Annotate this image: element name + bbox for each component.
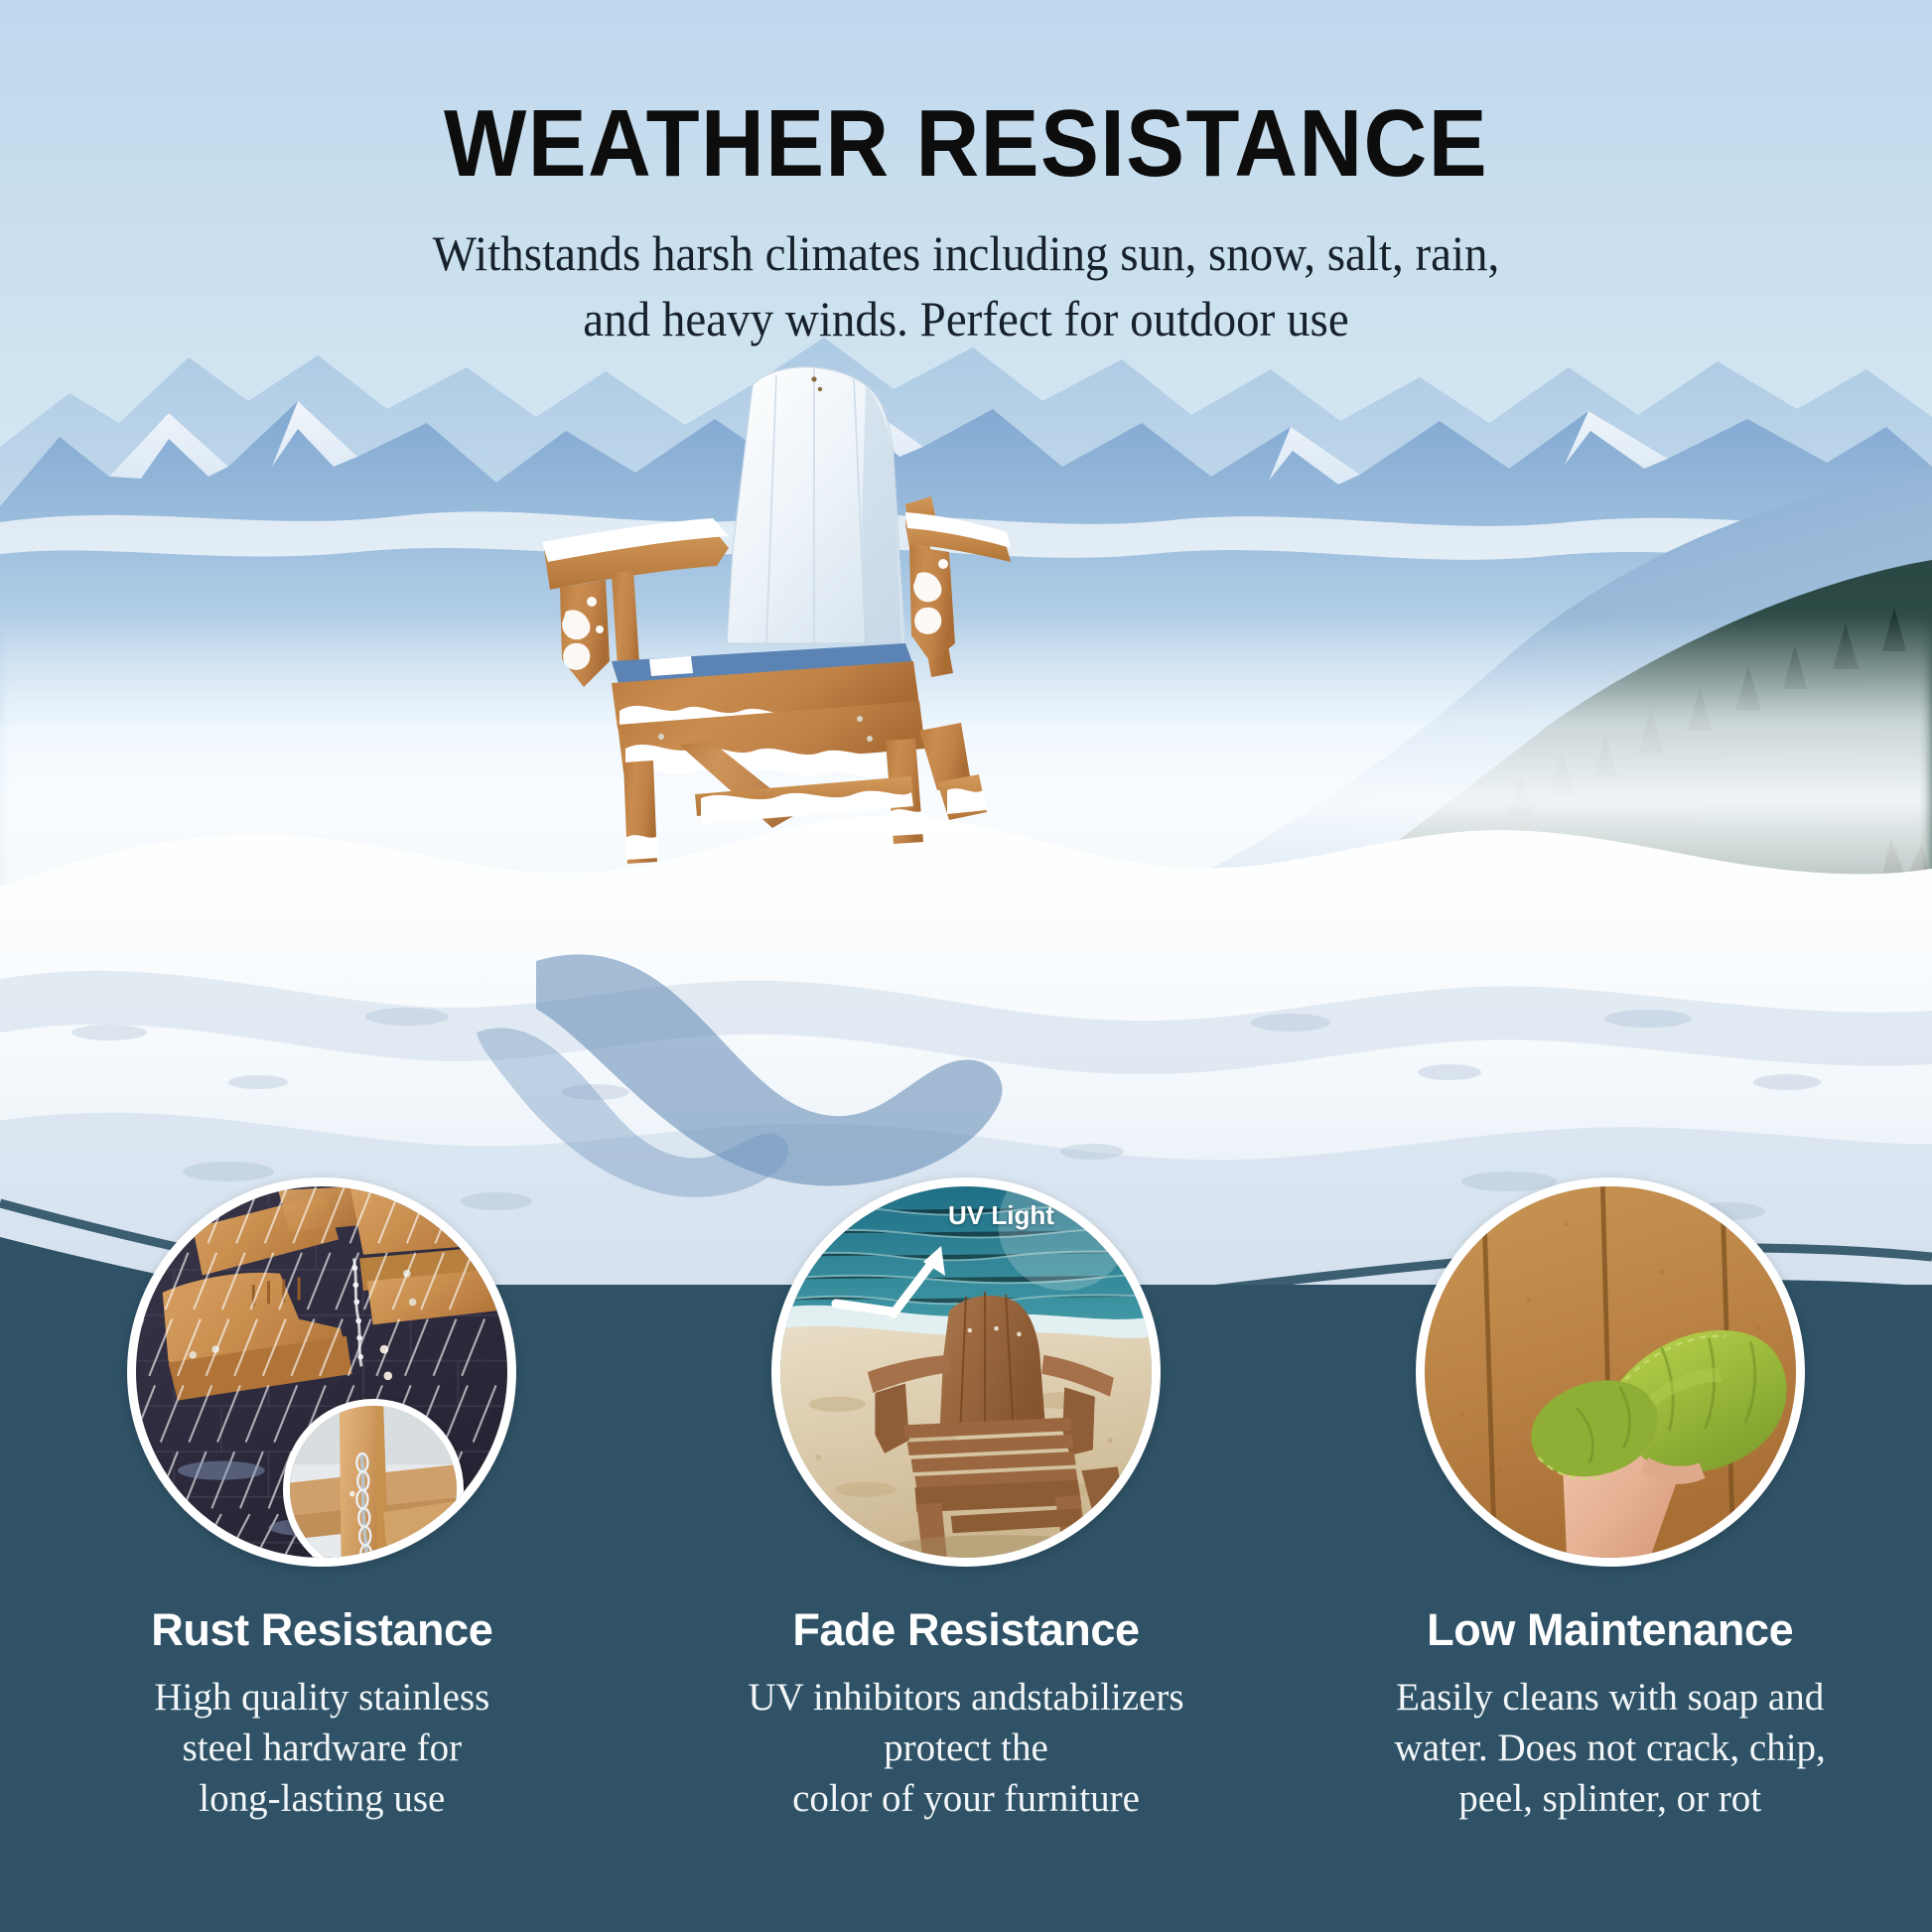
uv-light-arrow-icon bbox=[820, 1228, 979, 1337]
feature-title-fade-resistance: Fade Resistance bbox=[644, 1604, 1289, 1656]
feature-list: Rust Resistance High quality stainless s… bbox=[0, 1177, 1932, 1932]
feature-body-line-2: water. Does not crack, chip, bbox=[1313, 1723, 1906, 1773]
feature-body-line-1: Easily cleans with soap and bbox=[1313, 1672, 1906, 1723]
subtitle-line-1: Withstands harsh climates including sun,… bbox=[58, 220, 1873, 287]
infographic-poster: WEATHER RESISTANCE Withstands harsh clim… bbox=[0, 0, 1932, 1932]
feature-body-line-3: peel, splinter, or rot bbox=[1313, 1773, 1906, 1824]
feature-image-rust-resistance bbox=[127, 1177, 516, 1567]
uv-light-label: UV Light bbox=[948, 1200, 1054, 1231]
feature-image-fade-resistance: UV Light bbox=[771, 1177, 1161, 1567]
feature-body-rust-resistance: High quality stainless steel hardware fo… bbox=[0, 1672, 644, 1824]
feature-title-low-maintenance: Low Maintenance bbox=[1288, 1604, 1932, 1656]
feature-body-low-maintenance: Easily cleans with soap and water. Does … bbox=[1288, 1672, 1932, 1824]
feature-low-maintenance: Low Maintenance Easily cleans with soap … bbox=[1288, 1177, 1932, 1932]
chair-arm-right bbox=[905, 512, 1011, 663]
feature-rust-resistance: Rust Resistance High quality stainless s… bbox=[0, 1177, 644, 1932]
feature-body-line-1: UV inhibitors andstabilizers bbox=[670, 1672, 1263, 1723]
feature-body-line-3: color of your furniture bbox=[670, 1773, 1263, 1824]
feature-image-low-maintenance bbox=[1416, 1177, 1805, 1567]
subtitle-line-2: and heavy winds. Perfect for outdoor use bbox=[58, 286, 1873, 352]
header: WEATHER RESISTANCE Withstands harsh clim… bbox=[0, 0, 1932, 352]
feature-body-fade-resistance: UV inhibitors andstabilizers protect the… bbox=[644, 1672, 1289, 1824]
hero-chair-image bbox=[516, 345, 1033, 901]
feature-body-line-2: protect the bbox=[670, 1723, 1263, 1773]
feature-body-line-3: long-lasting use bbox=[26, 1773, 619, 1824]
feature-body-line-2: steel hardware for bbox=[26, 1723, 619, 1773]
feature-fade-resistance: UV Light Fade Resistance UV inhibitors a… bbox=[644, 1177, 1289, 1932]
feature-body-line-1: High quality stainless bbox=[26, 1672, 619, 1723]
chair-back bbox=[727, 367, 905, 643]
page-title: WEATHER RESISTANCE bbox=[77, 95, 1855, 193]
feature-inset-chain-closeup bbox=[283, 1399, 464, 1567]
page-subtitle: Withstands harsh climates including sun,… bbox=[58, 220, 1873, 352]
feature-title-rust-resistance: Rust Resistance bbox=[0, 1604, 644, 1656]
